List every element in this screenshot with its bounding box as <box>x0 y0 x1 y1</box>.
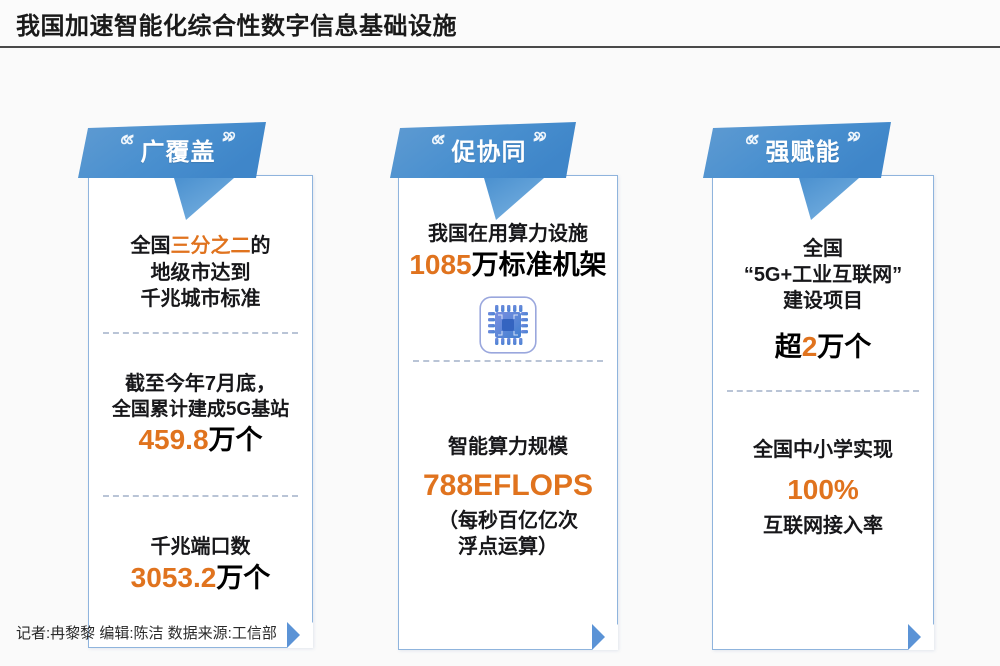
page-header: 我国加速智能化综合性数字信息基础设施 <box>0 0 1000 48</box>
stat-note: 浮点运算） <box>458 534 558 560</box>
stat-line: 全国中小学实现 <box>753 437 893 463</box>
card-3-section-1: 全国 “5G+工业互联网” 建设项目 超2万个 <box>721 210 925 390</box>
stat-line: 智能算力规模 <box>448 434 568 460</box>
stat-card-3[interactable]: 全国 “5G+工业互联网” 建设项目 超2万个 全国中小学实现 100% 互联网… <box>712 175 934 650</box>
stat-value: 3053.2万个 <box>131 560 271 596</box>
stat-line: 互联网接入率 <box>763 513 883 539</box>
stat-value: 788EFLOPS <box>423 467 593 505</box>
page-title: 我国加速智能化综合性数字信息基础设施 <box>16 6 457 41</box>
stat-line: 地级市达到 <box>151 260 251 286</box>
page-fold-cover <box>287 622 313 648</box>
stat-line: 全国三分之二的 <box>131 233 271 259</box>
stat-line: 全国 <box>803 236 843 262</box>
footer-credits: 记者:冉黎黎 编辑:陈洁 数据来源:工信部 <box>16 622 277 643</box>
card-1-section-2: 截至今年7月底， 全国累计建成5G基站 459.8万个 <box>97 334 304 495</box>
stat-line: 我国在用算力设施 <box>428 221 588 247</box>
card-3-section-2: 全国中小学实现 100% 互联网接入率 <box>721 392 925 585</box>
stat-value: 超2万个 <box>775 329 872 365</box>
ribbon-tag-1[interactable]: “ 广覆盖 ” <box>78 120 278 220</box>
stat-line: 全国累计建成5G基站 <box>112 397 289 422</box>
stat-line: “5G+工业互联网” <box>744 262 902 288</box>
card-1-content: 全国三分之二的 地级市达到 千兆城市标准 截至今年7月底， 全国累计建成5G基站… <box>89 176 312 647</box>
stat-line: 建设项目 <box>783 288 863 314</box>
card-2-content: 我国在用算力设施 1085万标准机架 <box>399 176 617 649</box>
cards-container: 全国三分之二的 地级市达到 千兆城市标准 截至今年7月底， 全国累计建成5G基站… <box>0 120 1000 550</box>
cpu-chip-icon-holder <box>407 294 609 354</box>
card-2-section-2: 智能算力规模 788EFLOPS （每秒百亿亿次 浮点运算） <box>407 362 609 633</box>
cpu-chip-icon <box>479 296 537 354</box>
stat-value: 1085万标准机架 <box>409 247 606 283</box>
card-2-section-1: 我国在用算力设施 1085万标准机架 <box>407 210 609 294</box>
stat-line: 千兆端口数 <box>151 534 251 560</box>
stat-card-2[interactable]: 我国在用算力设施 1085万标准机架 <box>398 175 618 650</box>
stat-note: （每秒百亿亿次 <box>438 508 578 534</box>
stat-value: 100% <box>787 472 859 508</box>
ribbon-tag-3[interactable]: “ 强赋能 ” <box>703 120 903 220</box>
stat-value: 459.8万个 <box>138 422 262 458</box>
card-1-section-3: 千兆端口数 3053.2万个 <box>97 497 304 633</box>
page-fold-cover <box>908 624 934 650</box>
stat-line: 截至今年7月底， <box>125 371 276 397</box>
card-3-content: 全国 “5G+工业互联网” 建设项目 超2万个 全国中小学实现 100% 互联网… <box>713 176 933 649</box>
stat-line: 千兆城市标准 <box>141 286 261 312</box>
ribbon-shape <box>703 120 903 220</box>
ribbon-shape <box>390 120 588 220</box>
page-fold-cover <box>592 624 618 650</box>
ribbon-shape <box>78 120 278 220</box>
stat-card-1[interactable]: 全国三分之二的 地级市达到 千兆城市标准 截至今年7月底， 全国累计建成5G基站… <box>88 175 313 648</box>
ribbon-tag-2[interactable]: “ 促协同 ” <box>390 120 588 220</box>
card-1-section-1: 全国三分之二的 地级市达到 千兆城市标准 <box>97 214 304 332</box>
